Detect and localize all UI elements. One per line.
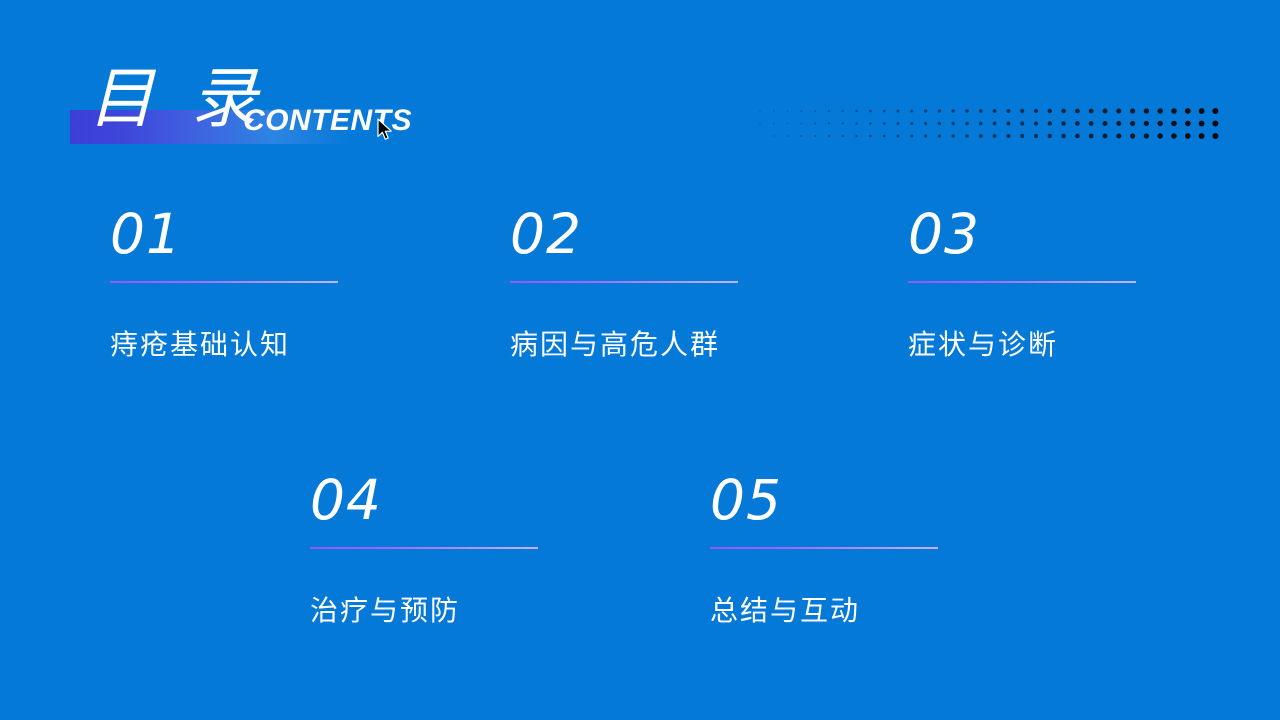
toc-number: 02 xyxy=(510,207,810,269)
toc-item-02[interactable]: 02 病因与高危人群 xyxy=(510,207,810,362)
toc-item-04[interactable]: 04 治疗与预防 xyxy=(310,473,610,628)
toc-divider xyxy=(710,547,938,549)
toc-divider xyxy=(908,281,1136,283)
page-title-chinese: 目 录 xyxy=(88,66,265,132)
toc-label: 症状与诊断 xyxy=(908,327,1208,362)
toc-divider xyxy=(510,281,738,283)
toc-divider xyxy=(110,281,338,283)
toc-number: 05 xyxy=(710,473,1010,535)
toc-label: 总结与互动 xyxy=(710,593,1010,628)
toc-number: 01 xyxy=(110,207,410,269)
slide-header: 目 录 CONTENTS xyxy=(0,0,1280,175)
toc-label: 痔疮基础认知 xyxy=(110,327,410,362)
toc-item-03[interactable]: 03 症状与诊断 xyxy=(908,207,1208,362)
contents-slide: 目 录 CONTENTS 01 痔疮基础认知 02 病因与高危人群 03 症状与… xyxy=(0,0,1280,720)
toc-item-01[interactable]: 01 痔疮基础认知 xyxy=(110,207,410,362)
dot-grid-decoration xyxy=(756,106,1222,142)
toc-item-05[interactable]: 05 总结与互动 xyxy=(710,473,1010,628)
toc-divider xyxy=(310,547,538,549)
page-title-english: CONTENTS xyxy=(243,106,412,136)
toc-label: 治疗与预防 xyxy=(310,593,610,628)
toc-label: 病因与高危人群 xyxy=(510,327,810,362)
toc-number: 03 xyxy=(908,207,1208,269)
toc-number: 04 xyxy=(310,473,610,535)
